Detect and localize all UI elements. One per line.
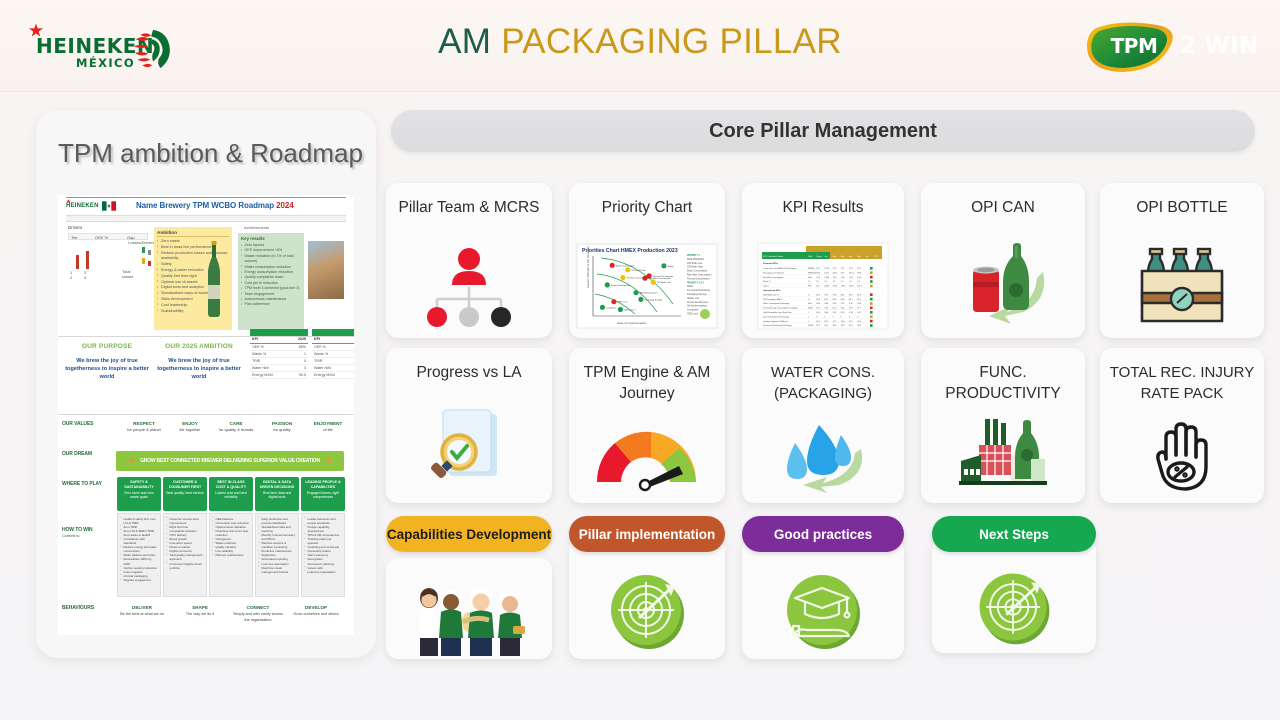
slide-root: HEINEKEN MÉXICO AM PAC [0, 0, 1280, 720]
can-bottle-recycle-icon [921, 241, 1085, 330]
roadmap-detail-box: Health & safety first: zero LTA & TRIRZe… [117, 513, 161, 597]
svg-text:Water Consumption: Water Consumption [687, 269, 708, 272]
svg-text:145.1: 145.1 [857, 285, 862, 287]
list-item: Reduce energy and water consumption [121, 545, 158, 553]
roadmap-targets-table: KPI 2025 OEE %85%Waste %1TRIR0Water hl/h… [250, 329, 308, 379]
svg-text:hl/hl: hl/hl [808, 303, 812, 305]
roadmap-targets-col1: KPI [252, 336, 258, 343]
svg-text:146.5: 146.5 [841, 285, 846, 287]
svg-text:145: 145 [816, 285, 819, 287]
svg-text:hl/FTE: hl/FTE [808, 325, 814, 327]
roadmap-purpose-body: We brew the joy of true togetherness to … [64, 357, 150, 381]
svg-text:Complaints: Complaints [687, 308, 699, 311]
table-row: Waste %1 [250, 351, 308, 358]
tab-pill-capabilities-development[interactable]: Capabilities Development [386, 516, 552, 552]
svg-text:16.4: 16.4 [841, 320, 845, 322]
svg-text:Jun: Jun [865, 256, 868, 258]
svg-text:1.0: 1.0 [816, 281, 819, 283]
roadmap-doc-title-text: Name Brewery TPM WCBO Roadmap [136, 201, 274, 210]
svg-text:81.0: 81.0 [849, 294, 853, 296]
svg-text:OEE Lines: OEE Lines [618, 301, 628, 303]
svg-text:12.1: 12.1 [841, 268, 845, 270]
svg-text:94.1: 94.1 [841, 307, 845, 309]
card-water-consumption[interactable]: WATER CONS. (PACKAGING) [742, 348, 904, 503]
svg-text:Thermal Consumption: Thermal Consumption [687, 277, 710, 280]
svg-text:92.6: 92.6 [849, 307, 853, 309]
svg-text:3.00: 3.00 [816, 303, 820, 305]
svg-text:Jan: Jan [824, 256, 827, 258]
card-pillar-team-mcrs[interactable]: Pillar Team & MCRS [386, 183, 552, 338]
roadmap-detail-box: OEE baselineConversion cost reductionOpt… [209, 513, 253, 597]
roadmap-mini-col1: Tier [71, 235, 78, 240]
roadmap-row-label: BEHAVIOURS [62, 605, 94, 611]
svg-text:0.00: 0.00 [816, 312, 820, 314]
injured-hand-icon [1100, 414, 1264, 495]
svg-text:Thermal Consumption 2: Thermal Consumption 2 [627, 276, 650, 279]
card-total-rec-injury-rate[interactable]: TOTAL REC. INJURY RATE PACK [1100, 348, 1264, 503]
svg-text:Ease of implementation: Ease of implementation [617, 321, 647, 325]
roadmap-strategy-grid: OUR VALUESOUR DREAMWHERE TO PLAYHOW TO W… [58, 415, 354, 633]
svg-text:Total Recordable Injury Rate P: Total Recordable Injury Rate Pack [763, 311, 792, 314]
card-body [742, 538, 904, 659]
tab-pill-label: Capabilities Development [387, 527, 551, 542]
svg-text:0.32: 0.32 [833, 312, 837, 314]
roadmap-targets-table-cols: KPI 2025 [250, 336, 308, 344]
svg-text:1.2: 1.2 [849, 281, 852, 283]
svg-text:18.2: 18.2 [824, 320, 828, 322]
list-item: People capability development [305, 525, 342, 533]
svg-text:82.0: 82.0 [816, 294, 820, 296]
svg-text:Quality Complaints / Million h: Quality Complaints / Million hl [763, 319, 788, 322]
svg-text:95.4: 95.4 [833, 307, 837, 309]
roadmap-banner-strip [66, 215, 346, 222]
roadmap-detail-box: Customer service level improvementRight … [163, 513, 207, 597]
core-pillar-management-title: Core Pillar Management [709, 120, 937, 143]
svg-text:80.2: 80.2 [841, 294, 845, 296]
svg-text:OEE Bottle Line %: OEE Bottle Line % [763, 293, 779, 296]
roadmap-ambition-body: We brew the joy of true togetherness to … [154, 357, 244, 381]
tab-pill-pillar-implementation[interactable]: Pillar implementation [569, 516, 725, 552]
roadmap-behaviour: DEVELOPGrow ourselves and others [288, 605, 344, 617]
roadmap-ambition-heading: OUR 2025 AMBITION [154, 343, 244, 350]
roadmap-bottle-icon [204, 241, 224, 319]
card-title: Progress vs LA [392, 362, 546, 383]
roadmap-ambition-note-heading: Ambition [157, 230, 229, 237]
list-item: Consumer insights driven portfolio [167, 562, 204, 570]
page-title-prefix: AM [438, 22, 491, 61]
svg-text:1: 1 [833, 316, 834, 318]
list-item: Waste reduction (to 1% of total volume) [241, 254, 301, 265]
svg-text:1: 1 [824, 316, 825, 318]
roadmap-row-label: HOW TO WINCommit to [62, 527, 93, 538]
svg-text:Waste Consumption: Waste Consumption [616, 264, 635, 267]
list-item: Daily production and process dashboard [259, 517, 296, 525]
list-item: Supplier engagement [121, 578, 158, 582]
kpi-results-table: KPI / Indicator NameUoMTargetJanFebMarAp… [758, 243, 888, 329]
card-body [932, 538, 1096, 653]
priority-scatter-chart: Priorities Chart HMEX Production 2023 Im… [577, 244, 717, 328]
svg-text:1.4: 1.4 [841, 281, 844, 283]
tab-pill-next-steps[interactable]: Next Steps [932, 516, 1096, 552]
audit-magnifier-icon [386, 406, 552, 495]
svg-text:148.0: 148.0 [824, 285, 829, 287]
svg-text:1.3: 1.3 [857, 281, 860, 283]
svg-text:1.03: 1.03 [833, 276, 837, 278]
roadmap-behaviour: CONNECTSimply and with clarity across th… [230, 605, 286, 624]
list-item: Compliance with standards [121, 537, 158, 545]
roadmap-purpose-heading: OUR PURPOSE [64, 343, 150, 350]
roadmap-drivers-label: Drivers [68, 225, 82, 230]
svg-text:1.03: 1.03 [849, 276, 853, 278]
svg-text:Conversion Cost HMEX / HL Pack: Conversion Cost HMEX / HL Packaging [763, 267, 796, 270]
svg-text:OPI Bottle Rate: OPI Bottle Rate [631, 268, 646, 271]
card-title: OPI CAN [927, 197, 1079, 218]
svg-text:13.20: 13.20 [824, 268, 829, 270]
svg-text:90.5: 90.5 [816, 307, 820, 309]
roadmap-col-header: ENJOYMENTof life [300, 421, 354, 434]
table-row: TRIR1 [312, 358, 354, 365]
card-title: FUNC. PRODUCTIVITY [927, 362, 1079, 404]
roadmap-bars-tick-d: 4 [84, 275, 86, 280]
tpm-ambition-roadmap-panel[interactable]: TPM ambition & Roadmap HEINEKEN Name Bre… [36, 110, 376, 658]
svg-text:99.8: 99.8 [857, 272, 861, 274]
tpm-logo-suffix: 2 WIN [1180, 33, 1258, 59]
svg-text:OEE Lines 2: OEE Lines 2 [624, 309, 637, 311]
roadmap-detail-box: Daily production and process dashboardSt… [255, 513, 299, 597]
svg-text:0.18: 0.18 [849, 312, 853, 314]
svg-text:AM Implementation: AM Implementation [640, 291, 659, 294]
svg-text:Water Consumption Packaging: Water Consumption Packaging [763, 302, 789, 305]
svg-text:OEE Lines: OEE Lines [687, 313, 699, 315]
roadmap-dream-banner: ✦GROW BEST CONNECTED BREWER DELIVERING S… [116, 451, 344, 471]
target-dart-icon [932, 566, 1096, 647]
roadmap-purpose-section: OUR PURPOSE We brew the joy of true toge… [58, 337, 354, 415]
svg-text:Utilities Use: Utilities Use [687, 296, 700, 299]
svg-text:84.0: 84.0 [841, 298, 845, 300]
svg-text:1.04: 1.04 [841, 276, 845, 278]
card-opi-can[interactable]: OPI CAN [921, 183, 1085, 338]
priority-chart-thumbnail: Priorities Chart HMEX Production 2023 Im… [569, 241, 725, 330]
table-row: OEE %78% [312, 344, 354, 351]
card-capabilities-development[interactable]: Capabilities Development [386, 516, 552, 659]
left-panel-title: TPM ambition & Roadmap [58, 138, 368, 169]
roadmap-bars-subtitle: Total losses [122, 269, 133, 279]
roadmap-results-list: Zero injuriesOEE improvement +5%Waste re… [241, 243, 301, 308]
roadmap-behaviour: SHAPEThe way we do it [172, 605, 228, 617]
svg-text:3.08: 3.08 [857, 303, 861, 305]
svg-text:May: May [857, 256, 861, 258]
roadmap-green-box: SAFETY & SUSTAINABILITYZero harm and zer… [117, 477, 161, 511]
svg-text:15.5: 15.5 [849, 320, 853, 322]
list-item: Standardised data and reporting [259, 525, 296, 533]
list-item: Plan adherence [241, 302, 301, 307]
card-title: OPI BOTTLE [1106, 197, 1258, 218]
page-title-main: PACKAGING PILLAR [501, 22, 842, 61]
roadmap-behaviour: DELIVERBe the best at what we do [114, 605, 170, 617]
gauge-icon [569, 420, 725, 495]
list-item: Real time visual management boards [259, 566, 296, 574]
factory-icon [921, 406, 1085, 495]
svg-text:Packaging Savings: Packaging Savings [645, 299, 663, 301]
card-tpm-engine-am-journey[interactable]: TPM Engine & AM Journey [569, 348, 725, 503]
card-good-practices[interactable]: Good practices [742, 516, 904, 659]
svg-text:hl/hl: hl/hl [808, 276, 812, 278]
card-kpi-results[interactable]: KPI Results KPI / Indicator NameUoMTarge… [742, 183, 904, 338]
card-title: Priority Chart [575, 197, 719, 218]
bottle-crate-icon [1100, 241, 1264, 330]
svg-text:UoM: UoM [808, 256, 813, 258]
mexico-flag-icon [102, 201, 116, 211]
svg-text:Labour: Labour [763, 284, 769, 287]
svg-text:3.30: 3.30 [833, 303, 837, 305]
svg-text:0: 0 [857, 316, 858, 318]
svg-text:32.4: 32.4 [857, 325, 861, 327]
svg-text:30.1: 30.1 [824, 325, 828, 327]
tab-pill-label: Pillar implementation [579, 527, 716, 542]
svg-text:82.1: 82.1 [824, 298, 828, 300]
list-item: Planned maintenance [213, 553, 250, 557]
card-body [569, 538, 725, 659]
table-row: TRIR0 [250, 358, 308, 365]
svg-text:Priorities Chart HMEX Producti: Priorities Chart HMEX Production 2023 [582, 248, 678, 254]
list-item: Leader behaviour and people standards [305, 517, 342, 525]
table-row: Energy MJ/hl90.5 [250, 372, 308, 379]
roadmap-thumbnail[interactable]: HEINEKEN Name Brewery TPM WCBO Roadmap 2… [58, 195, 354, 635]
roadmap-green-box: DIGITAL & DATA DRIVEN DECISIONSReal time… [255, 477, 299, 511]
roadmap-results-table: KPI 2024 OEE %78%Waste %2TRIR1Water hl/h… [312, 329, 354, 379]
svg-text:0: 0 [816, 316, 817, 318]
list-item: Learning organisation [305, 570, 342, 574]
svg-text:MXN 000: MXN 000 [808, 272, 816, 274]
kpi-table-thumbnail: KPI / Indicator NameUoMTargetJanFebMarAp… [742, 241, 904, 330]
card-opi-bottle[interactable]: OPI BOTTLE [1100, 183, 1264, 338]
card-pillar-implementation[interactable]: Pillar implementation [569, 516, 725, 659]
svg-text:0.25: 0.25 [841, 312, 845, 314]
svg-text:83.4: 83.4 [833, 298, 837, 300]
svg-text:145.8: 145.8 [849, 285, 854, 287]
svg-text:Packaging Savings: Packaging Savings [687, 294, 707, 296]
org-chart-icon [386, 241, 552, 330]
svg-text:85.1: 85.1 [857, 298, 861, 300]
roadmap-mini-table: Tier OEE % Gap [68, 233, 148, 240]
roadmap-top-section: HEINEKEN Name Brewery TPM WCBO Roadmap 2… [58, 195, 354, 337]
roadmap-results-panel: Key results Zero injuriesOEE improvement… [238, 233, 304, 330]
list-item: Training matrix per operator [305, 537, 342, 545]
roadmap-targets-table-body: OEE %85%Waste %1TRIR0Water hl/hl3Energy … [250, 344, 308, 379]
svg-text:OPI Bottle Line: OPI Bottle Line [657, 281, 672, 284]
svg-text:31.9: 31.9 [849, 325, 853, 327]
table-row: Water hl/hl3 [250, 365, 308, 372]
roadmap-results-table-cols: KPI 2024 [312, 336, 354, 344]
core-pillar-management-header: Core Pillar Management [391, 110, 1255, 152]
svg-text:OPI Bottle Rate: OPI Bottle Rate [687, 265, 704, 268]
svg-text:32.5: 32.5 [816, 325, 820, 327]
svg-text:30.8: 30.8 [833, 325, 837, 327]
roadmap-green-box: CUSTOMER & CONSUMER FIRSTBest quality, b… [163, 477, 207, 511]
card-priority-chart[interactable]: Priority Chart Priorities Chart HMEX Pro… [569, 183, 725, 338]
svg-text:1.02: 1.02 [816, 276, 820, 278]
roadmap-mini-col2: OEE % [95, 235, 108, 240]
card-title: TPM Engine & AM Journey [575, 362, 719, 404]
svg-text:85.0: 85.0 [816, 298, 820, 300]
svg-text:0.11: 0.11 [857, 312, 861, 314]
roadmap-results-heading: Key results [241, 236, 301, 241]
svg-text:0.40: 0.40 [824, 312, 828, 314]
list-item: Monthly forecast accuracy and PDCA [259, 533, 296, 541]
svg-text:14.8: 14.8 [857, 320, 861, 322]
svg-text:Thermal Energy Consumption Pac: Thermal Energy Consumption Packaging [763, 306, 797, 309]
svg-text:People Development: People Development [611, 283, 631, 286]
svg-text:12.1: 12.1 [857, 268, 861, 270]
svg-text:Waste: Waste [687, 285, 694, 288]
svg-text:0: 0 [841, 316, 842, 318]
svg-text:2.1: 2.1 [824, 281, 827, 283]
svg-text:12.0: 12.0 [816, 268, 820, 270]
roadmap-brand-label: HEINEKEN [66, 203, 99, 209]
svg-text:1.04: 1.04 [857, 276, 861, 278]
roadmap-row-label: WHERE TO PLAY [62, 481, 102, 487]
roadmap-brewery-photo [308, 241, 344, 299]
svg-text:Complaints: Complaints [606, 306, 616, 309]
svg-text:Functional Productivity: Functional Productivity [687, 289, 711, 292]
svg-text:79.8: 79.8 [833, 294, 837, 296]
svg-text:101.3: 101.3 [849, 272, 854, 274]
svg-text:Raw Mats Consumption: Raw Mats Consumption [687, 273, 712, 276]
roadmap-results-col1: KPI [314, 336, 320, 343]
tpm-logo-text: TPM [1104, 34, 1164, 58]
svg-text:3.15: 3.15 [849, 303, 853, 305]
table-row: Waste %2 [312, 351, 354, 358]
card-func-productivity[interactable]: FUNC. PRODUCTIVITY [921, 348, 1085, 503]
table-row: Energy MJ/hl97.8 [312, 372, 354, 379]
svg-text:AM Implementation: AM Implementation [687, 304, 708, 307]
list-item: Health & safety first: zero LTA & TRIR [121, 517, 158, 525]
card-title: KPI Results [748, 197, 898, 218]
tab-pill-label: Next Steps [979, 527, 1049, 542]
card-title: WATER CONS. (PACKAGING) [748, 362, 898, 404]
svg-text:102.1: 102.1 [824, 272, 829, 274]
svg-text:12.9: 12.9 [833, 268, 837, 270]
roadmap-green-box: BEST IN CLASS COST & QUALITYLowest cost … [209, 477, 253, 511]
svg-text:17.1: 17.1 [833, 320, 837, 322]
svg-text:Packaging Cost Variance: Packaging Cost Variance [763, 271, 784, 274]
svg-text:PRIORITY 1: PRIORITY 1 [687, 255, 700, 257]
roadmap-bars-title: Losses/Drivers [128, 240, 154, 245]
roadmap-green-box: LEADING PEOPLE & CAPABILITIESEngaged tea… [301, 477, 345, 511]
svg-text:Lost Time Accidents Packaging: Lost Time Accidents Packaging [763, 315, 789, 318]
roadmap-doc-title-tag: 2024 [276, 201, 293, 210]
roadmap-achievements-label: Achievements [244, 225, 269, 230]
table-row: Water hl/hl3.4 [312, 365, 354, 372]
svg-text:MXN/hl: MXN/hl [808, 268, 815, 270]
roadmap-bars-tick-b: 2 [70, 275, 72, 280]
graduation-cap-hand-icon [742, 566, 904, 653]
roadmap-targets-table-header [250, 329, 308, 336]
svg-text:14.0: 14.0 [816, 320, 820, 322]
svg-text:31.4: 31.4 [841, 325, 845, 327]
svg-text:81.6: 81.6 [857, 294, 861, 296]
list-item: Machine sensors & condition monitoring [259, 541, 296, 549]
svg-text:1.046: 1.046 [824, 276, 829, 278]
team-people-illustration [386, 586, 552, 653]
svg-text:Raw Mats Consumption: Raw Mats Consumption [763, 275, 783, 278]
svg-text:98.4: 98.4 [816, 272, 820, 274]
svg-text:0: 0 [849, 316, 850, 318]
svg-text:RAW MATERIAL: RAW MATERIAL [687, 257, 705, 260]
svg-text:91.7: 91.7 [857, 307, 861, 309]
svg-text:Impact / Benefit to the busine: Impact / Benefit to the business [586, 245, 590, 287]
svg-text:People Development: People Development [687, 300, 709, 303]
svg-text:Waste %: Waste % [763, 280, 771, 283]
list-item: Total quality management approach [167, 553, 204, 561]
roadmap-divider [66, 197, 346, 198]
table-row: OEE %85% [250, 344, 308, 351]
roadmap-row-label: OUR DREAM [62, 451, 92, 457]
svg-text:KPI / Indicator Name: KPI / Indicator Name [763, 255, 784, 258]
card-title: TOTAL REC. INJURY RATE PACK [1106, 362, 1258, 404]
svg-text:78.5: 78.5 [824, 294, 828, 296]
water-drops-recycle-icon [742, 414, 904, 495]
svg-text:Financial KPIs: Financial KPIs [763, 263, 779, 265]
roadmap-results-table-header [312, 329, 354, 336]
svg-text:100.7: 100.7 [833, 272, 838, 274]
svg-text:PRIORITY 2 & 3: PRIORITY 2 & 3 [687, 282, 705, 284]
list-item: Renewables 100% by 2030 [121, 557, 158, 565]
tpm2win-logo: TPM 2 WIN [1084, 18, 1264, 76]
list-item: Customer service level improvement [167, 517, 204, 525]
roadmap-targets-col2: 2025 [298, 336, 306, 343]
svg-text:MJ/hl: MJ/hl [808, 307, 813, 309]
svg-text:Mar: Mar [841, 256, 845, 258]
svg-text:3.22: 3.22 [841, 303, 845, 305]
card-next-steps[interactable]: Next Steps [932, 516, 1096, 653]
tab-pill-label: Good practices [774, 527, 872, 542]
card-progress-vs-la[interactable]: Progress vs LA [386, 348, 552, 503]
svg-text:OPI Packaging CAN %: OPI Packaging CAN % [763, 297, 783, 300]
target-dart-icon [569, 566, 725, 653]
roadmap-detail-box: Leader behaviour and people standardsPeo… [301, 513, 345, 597]
card-body [386, 558, 552, 659]
svg-text:84.7: 84.7 [849, 298, 853, 300]
svg-text:OPI Bottle Line: OPI Bottle Line [687, 261, 703, 264]
svg-text:Raw Mats Consumption: Raw Mats Consumption [649, 277, 672, 280]
list-item: Downtime and minor stop reduction [213, 529, 250, 537]
svg-text:99.2: 99.2 [841, 272, 845, 274]
svg-text:97.8: 97.8 [824, 307, 828, 309]
svg-text:Apr: Apr [849, 255, 852, 258]
svg-text:Operational KPIs: Operational KPIs [763, 289, 781, 292]
svg-text:Functional Productivity Packag: Functional Productivity Packaging [763, 324, 791, 327]
tab-pill-good-practices[interactable]: Good practices [742, 516, 904, 552]
svg-text:147.2: 147.2 [833, 285, 838, 287]
roadmap-row-label: OUR VALUES [62, 421, 93, 427]
roadmap-doc-title: Name Brewery TPM WCBO Roadmap 2024 [136, 201, 294, 210]
svg-text:Target: Target [816, 255, 822, 258]
card-title: Pillar Team & MCRS [392, 197, 546, 218]
svg-text:Safety: Safety [668, 264, 675, 267]
svg-text:YTD: YTD [874, 256, 879, 258]
slide-header: HEINEKEN MÉXICO AM PAC [0, 0, 1280, 92]
svg-text:3.40: 3.40 [824, 303, 828, 305]
roadmap-results-table-body: OEE %78%Waste %2TRIR1Water hl/hl3.4Energ… [312, 344, 354, 379]
svg-text:1.8: 1.8 [833, 281, 836, 283]
svg-text:12.4: 12.4 [849, 268, 853, 270]
